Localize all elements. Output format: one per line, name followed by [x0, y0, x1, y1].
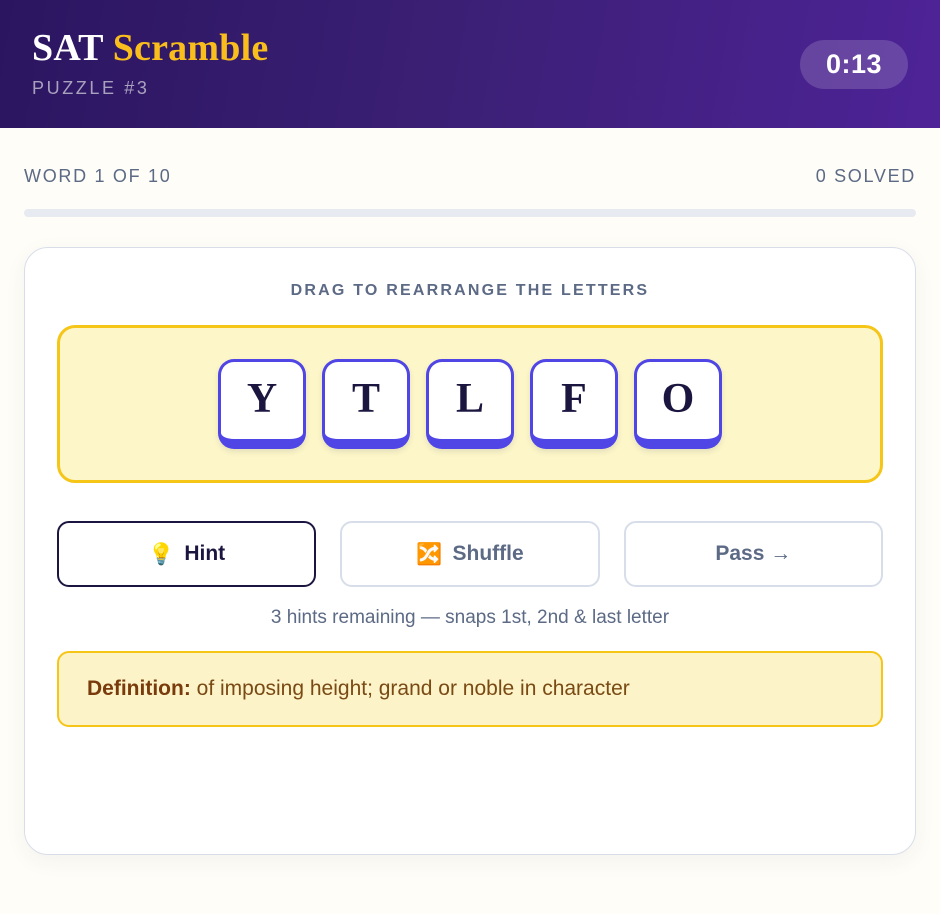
letter-tile-value: L — [456, 378, 484, 420]
hints-remaining-note: 3 hints remaining — snaps 1st, 2nd & las… — [57, 607, 883, 629]
letter-tile[interactable]: F — [530, 359, 618, 449]
drag-instruction-heading: DRAG TO REARRANGE THE LETTERS — [57, 282, 883, 300]
hint-button[interactable]: 💡 Hint — [57, 521, 316, 587]
letter-tile-value: T — [352, 378, 380, 420]
letter-tile[interactable]: T — [322, 359, 410, 449]
definition-box: Definition: of imposing height; grand or… — [57, 651, 883, 727]
status-row: WORD 1 OF 10 0 SOLVED — [24, 128, 916, 187]
shuffle-button-label: Shuffle — [452, 542, 523, 566]
app-title: SAT Scramble — [32, 29, 268, 69]
status-section: WORD 1 OF 10 0 SOLVED — [0, 128, 940, 217]
definition-text: of imposing height; grand or noble in ch… — [191, 677, 630, 700]
definition-label: Definition: — [87, 677, 191, 700]
letter-tile-value: F — [561, 378, 587, 420]
timer-badge: 0:13 — [800, 40, 908, 89]
app-title-primary: SAT — [32, 27, 103, 69]
app-header: SAT Scramble PUZZLE #3 0:13 — [0, 0, 940, 128]
action-button-row: 💡 Hint 🔀 Shuffle Pass → — [57, 521, 883, 587]
letter-tray[interactable]: Y T L F O — [57, 325, 883, 483]
light-bulb-icon: 💡 — [148, 544, 174, 565]
solved-count-label: 0 SOLVED — [816, 166, 916, 187]
letter-tile-value: Y — [247, 378, 277, 420]
puzzle-card: DRAG TO REARRANGE THE LETTERS Y T L F O … — [24, 247, 916, 855]
pass-button-label: Pass → — [715, 542, 791, 566]
letter-tile[interactable]: Y — [218, 359, 306, 449]
brand-block: SAT Scramble PUZZLE #3 — [32, 29, 268, 99]
word-progress-label: WORD 1 OF 10 — [24, 166, 171, 187]
letter-tile[interactable]: L — [426, 359, 514, 449]
hint-button-label: Hint — [184, 542, 225, 566]
puzzle-number-label: PUZZLE #3 — [32, 78, 268, 99]
pass-button[interactable]: Pass → — [624, 521, 883, 587]
letter-tile-value: O — [662, 378, 695, 420]
letter-tile[interactable]: O — [634, 359, 722, 449]
app-title-accent: Scramble — [113, 27, 269, 69]
shuffle-button[interactable]: 🔀 Shuffle — [340, 521, 599, 587]
shuffle-icon: 🔀 — [416, 544, 442, 565]
progress-bar-track — [24, 209, 916, 217]
